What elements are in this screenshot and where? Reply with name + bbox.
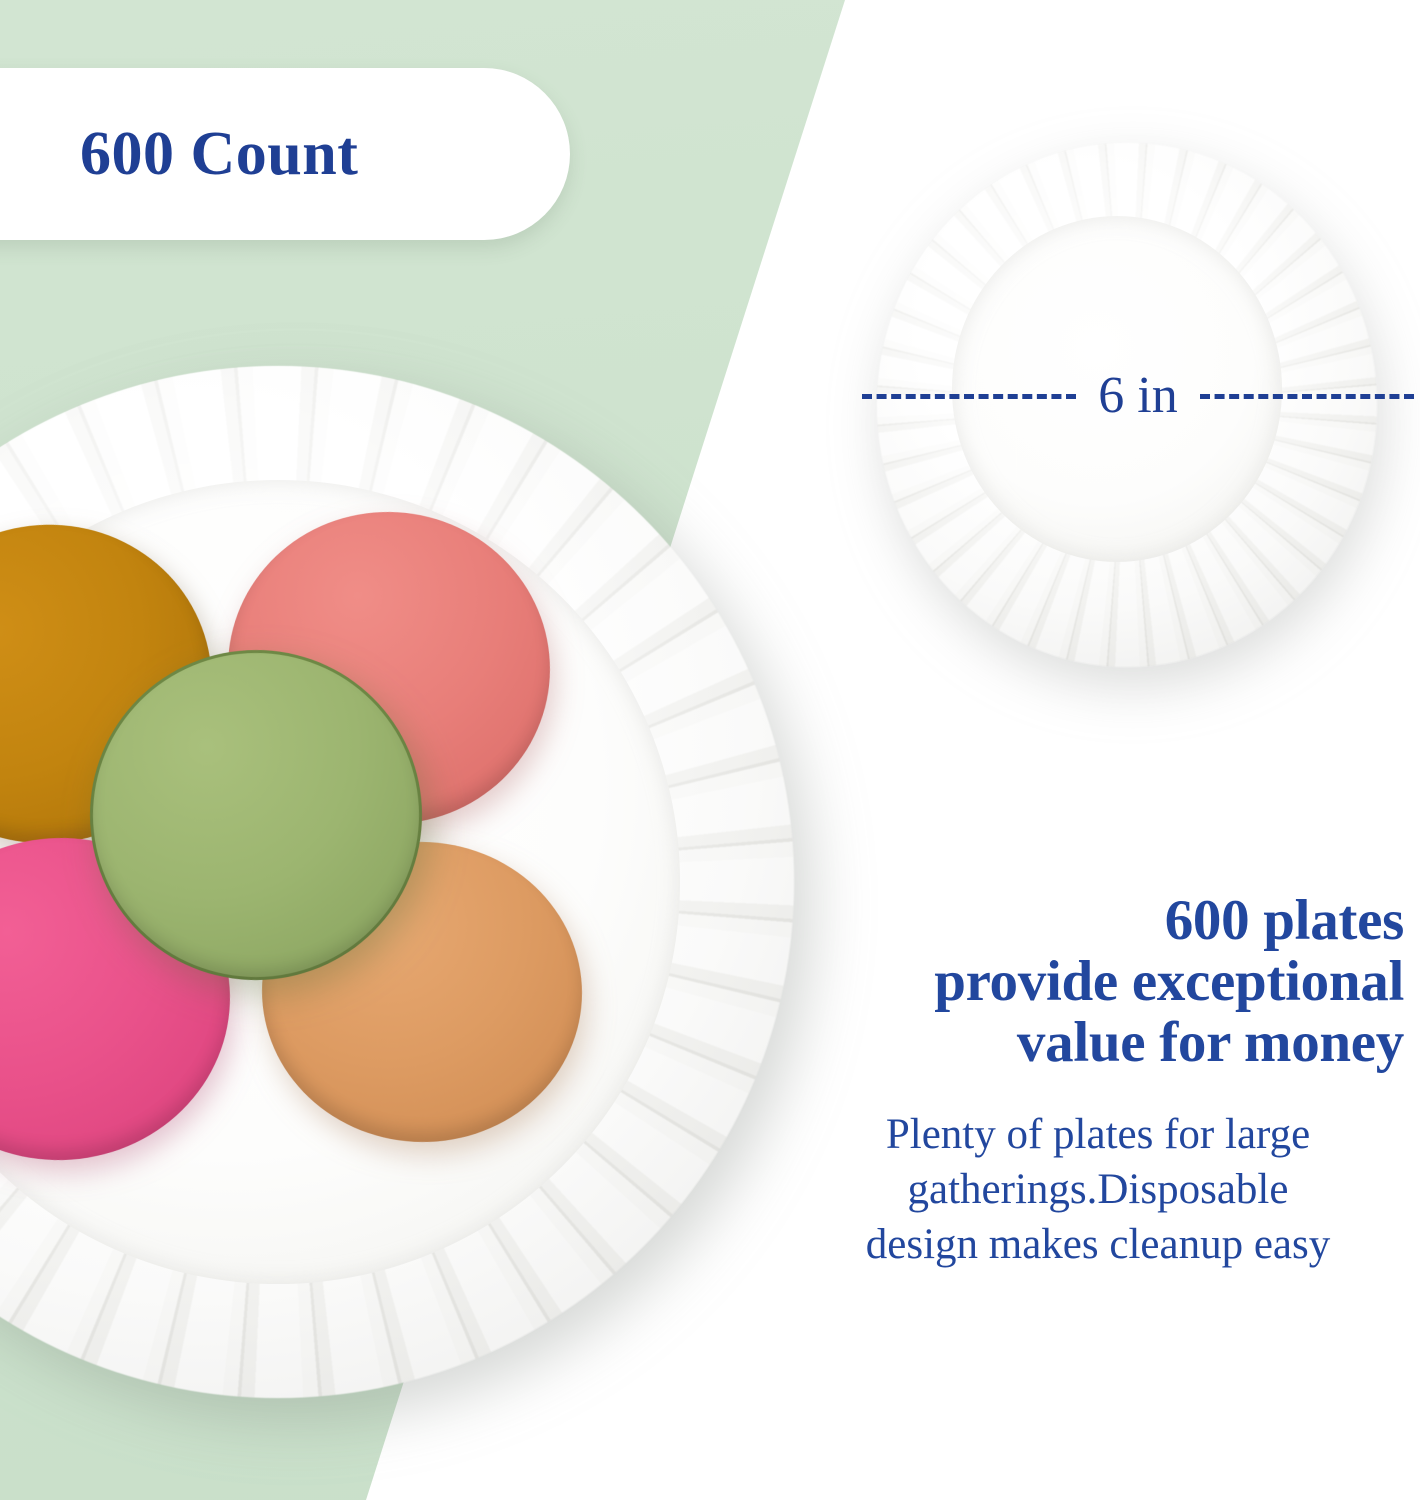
body-copy: Plenty of plates for large gatherings.Di… bbox=[792, 1107, 1404, 1272]
product-image-canvas: 600 Count 6 in 600 plates provide except… bbox=[0, 0, 1420, 1500]
count-badge-label: 600 Count bbox=[80, 123, 358, 185]
marketing-copy-block: 600 plates provide exceptional value for… bbox=[792, 890, 1404, 1272]
dimension-label: 6 in bbox=[1098, 370, 1177, 422]
body-line-1: Plenty of plates for large bbox=[792, 1107, 1404, 1162]
dimension-dash-right-icon bbox=[1200, 394, 1414, 399]
headline-line-3: value for money bbox=[792, 1012, 1404, 1073]
headline-line-2: provide exceptional bbox=[792, 951, 1404, 1012]
headline: 600 plates provide exceptional value for… bbox=[792, 890, 1404, 1073]
headline-line-1: 600 plates bbox=[792, 890, 1404, 951]
body-line-2: gatherings.Disposable bbox=[792, 1162, 1404, 1217]
dimension-dash-left-icon bbox=[862, 394, 1076, 399]
body-line-3: design makes cleanup easy bbox=[792, 1217, 1404, 1272]
diameter-dimension-line: 6 in bbox=[862, 368, 1414, 424]
count-badge: 600 Count bbox=[0, 68, 570, 240]
